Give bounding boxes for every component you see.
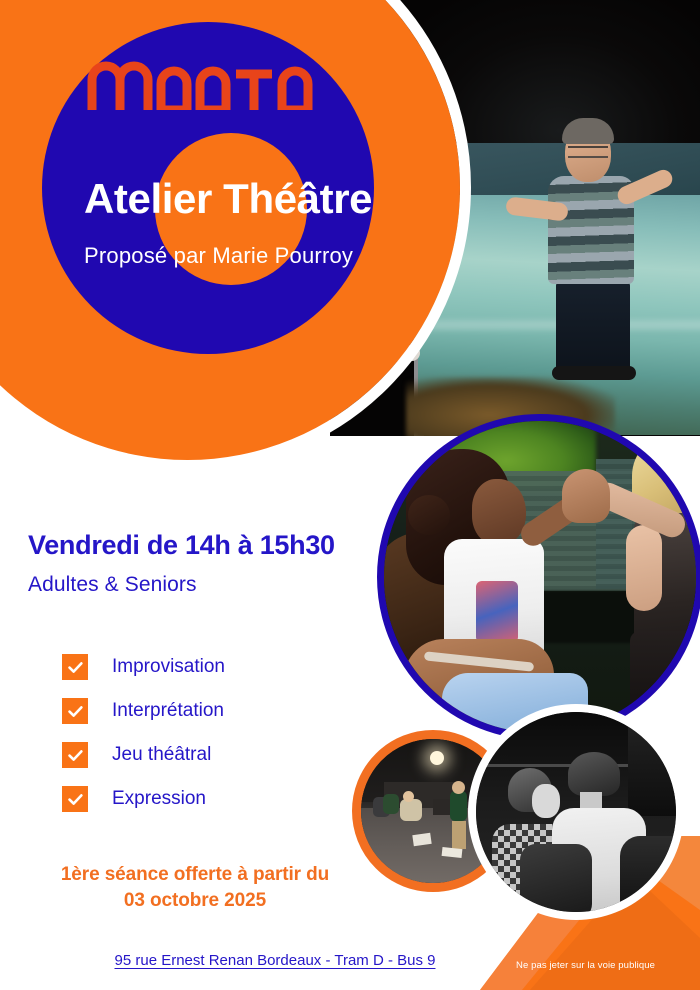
page-subtitle: Proposé par Marie Pourroy bbox=[84, 243, 353, 269]
schedule-time: Vendredi de 14h à 15h30 bbox=[28, 530, 335, 561]
person-right-legs bbox=[556, 280, 630, 372]
check-icon bbox=[62, 786, 88, 812]
person-right-hair bbox=[562, 118, 614, 144]
activities-checklist: Improvisation Interprétation Jeu théâtra… bbox=[62, 645, 225, 821]
bw-man-hair bbox=[568, 752, 620, 796]
orange-circle-notch bbox=[325, 0, 359, 20]
offer-line-1: 1ère séance offerte à partir du bbox=[0, 862, 390, 888]
checklist-item-label: Interprétation bbox=[112, 700, 224, 722]
check-icon bbox=[62, 698, 88, 724]
list-item: Interprétation bbox=[62, 689, 225, 733]
tanktop-print bbox=[476, 581, 518, 643]
maata-logo bbox=[86, 58, 316, 110]
list-item: Expression bbox=[62, 777, 225, 821]
list-item: Improvisation bbox=[62, 645, 225, 689]
seated-person-c bbox=[400, 799, 422, 821]
page-title: Atelier Théâtre bbox=[84, 178, 504, 220]
theatre-workshop-dance-photo bbox=[377, 414, 700, 740]
person-girl-bun bbox=[408, 495, 450, 535]
legal-disclaimer: Ne pas jeter sur la voie publique bbox=[516, 960, 655, 971]
bw-photo-background bbox=[476, 712, 676, 912]
schedule-audience: Adultes & Seniors bbox=[28, 573, 197, 597]
bw-backpack bbox=[520, 844, 592, 920]
bw-foreground-shoulder bbox=[620, 836, 676, 910]
offer-line-2: 03 octobre 2025 bbox=[0, 888, 390, 914]
audience-black-white-photo bbox=[468, 704, 684, 920]
stage-light bbox=[430, 751, 444, 765]
person-blonde-arm bbox=[626, 525, 662, 611]
standing-person-torso bbox=[450, 791, 467, 821]
list-item: Jeu théâtral bbox=[62, 733, 225, 777]
poster-canvas: Atelier Théâtre Proposé par Marie Pourro… bbox=[0, 0, 700, 990]
checkmark-icon bbox=[67, 703, 84, 720]
person-right-shoes bbox=[552, 366, 636, 380]
checkmark-icon bbox=[67, 747, 84, 764]
address-link[interactable]: 95 rue Ernest Renan Bordeaux - Tram D - … bbox=[0, 952, 550, 969]
glasses-icon bbox=[568, 146, 608, 158]
offer-block: 1ère séance offerte à partir du 03 octob… bbox=[0, 862, 390, 913]
standing-person-legs bbox=[452, 821, 466, 849]
checklist-item-label: Jeu théâtral bbox=[112, 744, 211, 766]
clasped-hands bbox=[562, 469, 610, 523]
bw-woman-face bbox=[532, 784, 560, 818]
person-girl-face bbox=[472, 479, 526, 545]
standing-person-head bbox=[452, 781, 465, 794]
maata-logo-icon bbox=[86, 58, 316, 110]
check-icon bbox=[62, 654, 88, 680]
seated-person-b bbox=[383, 794, 399, 814]
checkmark-icon bbox=[67, 659, 84, 676]
checklist-item-label: Improvisation bbox=[112, 656, 225, 678]
bw-curtain bbox=[628, 712, 684, 816]
checklist-item-label: Expression bbox=[112, 788, 206, 810]
seated-person-c-head bbox=[403, 791, 414, 802]
check-icon bbox=[62, 742, 88, 768]
checkmark-icon bbox=[67, 791, 84, 808]
